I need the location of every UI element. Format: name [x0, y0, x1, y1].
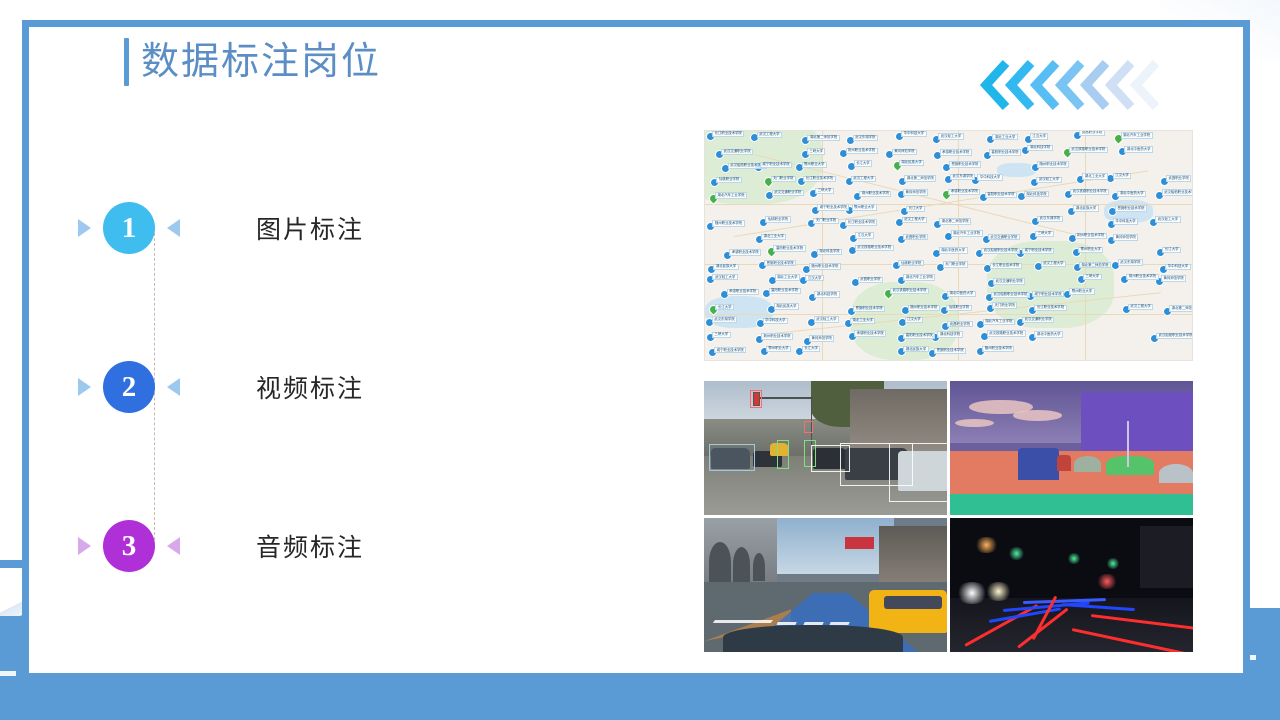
- triangle-left-icon: [167, 219, 180, 237]
- photo3-arch: [753, 553, 765, 581]
- map-poi-label[interactable]: 三峡大学: [807, 148, 826, 154]
- map-poi-label[interactable]: 武汉铁路职业技术学院: [1069, 147, 1108, 153]
- map-poi-label[interactable]: 仙桃职业学院: [946, 305, 971, 311]
- map-poi-label[interactable]: 武汉交通职业学院: [988, 234, 1020, 240]
- map-poi-label[interactable]: 武汉轻工大学: [814, 316, 839, 322]
- map-poi-label[interactable]: 武汉铁路职业技术学院: [890, 288, 929, 294]
- map-poi-label[interactable]: 湖北民族大学: [1073, 205, 1098, 211]
- map-poi-label[interactable]: 天门职业学院: [992, 302, 1017, 308]
- map-poi-label[interactable]: 湖北第二师范学院: [1169, 305, 1193, 311]
- map-poi-label[interactable]: 鄂州职业大学: [802, 162, 827, 168]
- map-poi-label[interactable]: 襄阳职业技术学院: [903, 333, 935, 339]
- photo-object-detection[interactable]: [704, 381, 947, 515]
- title-text: 数据标注岗位: [141, 43, 381, 81]
- map-poi-label[interactable]: 随州职业技术学院: [712, 220, 744, 226]
- map-poi-label[interactable]: 湖北民族大学: [774, 303, 799, 309]
- photo4-taillight-glow: [1096, 574, 1118, 589]
- map-poi-label[interactable]: 江汉大学: [855, 232, 874, 238]
- photo3-arch: [733, 547, 750, 582]
- map-poi-label[interactable]: 湖北第二师范学院: [939, 218, 971, 224]
- photo2-car-mask: [1106, 456, 1155, 475]
- map-poi-label[interactable]: 三峡大学: [1083, 274, 1102, 280]
- map-poi-label[interactable]: 武汉轻工大学: [1155, 216, 1180, 222]
- map-poi-label[interactable]: 武汉船舶职业技术学院: [1156, 333, 1193, 339]
- map-poi-label[interactable]: 长江职业技术学院: [845, 219, 877, 225]
- map-poi-label[interactable]: 恩施职业技术学院: [934, 348, 966, 354]
- map-poi-label[interactable]: 武昌职业学院: [1166, 175, 1191, 181]
- map-poi-label[interactable]: 湖北第二师范学院: [1079, 262, 1111, 268]
- bbox-traffic-light: [804, 421, 814, 433]
- map-poi-label[interactable]: 恩施职业技术学院: [949, 161, 981, 167]
- map-poi-label[interactable]: 孝感职业技术学院: [948, 189, 980, 195]
- map-poi-label[interactable]: 天门职业学院: [943, 261, 968, 267]
- map-poi-label[interactable]: 三峡大学: [1035, 231, 1054, 237]
- photo3-ego-hood: [723, 625, 903, 652]
- map-poi-label[interactable]: 武汉轻工大学: [938, 133, 963, 139]
- map-road: [1085, 131, 1086, 360]
- map-poi-label[interactable]: 孝感职业技术学院: [854, 330, 886, 336]
- map-poi-label[interactable]: 随州职业技术学院: [982, 346, 1014, 352]
- map-poi-label[interactable]: 鄂州职业大学: [766, 346, 791, 352]
- map-poi-label[interactable]: 黄冈师范学院: [892, 149, 917, 155]
- map-screenshot[interactable]: 长江职业技术学院武汉工程大学湖北第二师范学院武汉东湖学院华中科技大学武汉轻工大学…: [704, 130, 1193, 361]
- photo4-traffic-light-green: [1106, 558, 1121, 569]
- map-poi-label[interactable]: 湖北民族大学: [903, 346, 928, 352]
- photo3-arch: [709, 542, 731, 582]
- triangle-right-icon: [78, 219, 91, 237]
- map-poi-label[interactable]: 荆州职业技术学院: [761, 333, 793, 339]
- map-poi-label[interactable]: 湖北中医药大学: [947, 291, 976, 297]
- map-poi-label[interactable]: 湖北科技学院: [817, 249, 842, 255]
- map-poi-label[interactable]: 荆州职业技术学院: [1075, 233, 1107, 239]
- map-poi-label[interactable]: 武汉铁路职业技术学院: [987, 330, 1026, 336]
- map-poi-label[interactable]: 仙桃职业学院: [765, 216, 790, 222]
- step-number-badge: 3: [103, 520, 155, 572]
- map-poi-label[interactable]: 武汉东湖学院: [1118, 259, 1143, 265]
- map-poi-label[interactable]: 襄阳职业技术学院: [985, 192, 1017, 198]
- map-poi-label[interactable]: 武汉东湖学院: [1037, 216, 1062, 222]
- bbox-traffic-light: [750, 390, 762, 407]
- map-poi-label[interactable]: 荆州职业技术学院: [1126, 274, 1158, 280]
- map-poi-label[interactable]: 长江大学: [906, 206, 925, 212]
- list-item[interactable]: 2 视频标注: [78, 354, 598, 420]
- map-poi-label[interactable]: 武汉船舶职业技术学院: [1162, 189, 1193, 195]
- map-poi-label[interactable]: 天门职业学院: [771, 176, 796, 182]
- map-poi-label[interactable]: 湖北工业大学: [1082, 173, 1107, 179]
- steps-timeline: 1 图片标注 2 视频标注 3 音频标注: [78, 170, 598, 590]
- photo3-taxi-window: [884, 596, 942, 609]
- map-poi-label[interactable]: 江汉大学: [1030, 133, 1049, 139]
- map-poi-label[interactable]: 武汉东湖学院: [853, 135, 878, 141]
- photo2-vegetation-mask: [1081, 392, 1193, 456]
- map-poi-label[interactable]: 武汉交通职业学院: [1022, 317, 1054, 323]
- triangle-left-icon: [167, 537, 180, 555]
- map-poi-label[interactable]: 江汉大学: [805, 275, 824, 281]
- map-poi-label[interactable]: 随州职业技术学院: [809, 263, 841, 269]
- map-poi-label[interactable]: 咸宁职业技术学院: [714, 347, 746, 353]
- map-poi-label[interactable]: 荆州职业技术学院: [846, 148, 878, 154]
- map-poi-label[interactable]: 咸宁职业技术学院: [760, 162, 792, 168]
- map-poi-label[interactable]: 湖北科技学院: [1027, 145, 1052, 151]
- map-poi-label[interactable]: 武汉轻工大学: [712, 274, 737, 280]
- map-poi-label[interactable]: 湖北中医药大学: [1124, 146, 1153, 152]
- page-title: 数据标注岗位: [124, 38, 381, 86]
- map-poi-label[interactable]: 湖北科技学院: [814, 291, 839, 297]
- map-poi-label[interactable]: 华中科技大学: [977, 174, 1002, 180]
- map-poi-label[interactable]: 湖北汽车工业学院: [951, 230, 983, 236]
- map-poi-label[interactable]: 武汉铁路职业技术学院: [855, 245, 894, 251]
- photo3-billboard: [845, 537, 874, 549]
- map-poi-label[interactable]: 荆州职业技术学院: [859, 191, 891, 197]
- map-poi-label[interactable]: 孝感职业技术学院: [940, 149, 972, 155]
- map-poi-label[interactable]: 湖北汽车工业学院: [903, 274, 935, 280]
- bbox-car: [889, 443, 947, 502]
- photo-semantic-segmentation[interactable]: [950, 381, 1193, 515]
- map-poi-label[interactable]: 武汉交通职业学院: [721, 149, 753, 155]
- map-poi-label[interactable]: 长江大学: [715, 304, 734, 310]
- map-poi-label[interactable]: 武昌职业学院: [1079, 130, 1104, 136]
- photo2-vehicle-mask: [1074, 456, 1101, 472]
- step-number-badge: 1: [103, 202, 155, 254]
- map-poi-label[interactable]: 江汉大学: [905, 317, 924, 323]
- map-poi-label[interactable]: 武汉东湖学院: [950, 174, 975, 180]
- map-poi-label[interactable]: 天门职业学院: [813, 218, 838, 224]
- photo2-terrain-mask: [950, 494, 1193, 515]
- map-poi-label[interactable]: 武昌职业学院: [858, 277, 883, 283]
- photo2-road-mask: [950, 451, 1193, 497]
- map-poi-label[interactable]: 长江大学: [802, 346, 821, 352]
- triangle-left-icon: [167, 378, 180, 396]
- map-poi-label[interactable]: 恩施职业技术学院: [853, 306, 885, 312]
- map-poi-label[interactable]: 三峡大学: [815, 188, 834, 194]
- map-poi-label[interactable]: 随州职业技术学院: [908, 305, 940, 311]
- photo2-vehicle-mask: [1159, 464, 1193, 483]
- map-poi-label[interactable]: 湖北第二师范学院: [807, 135, 839, 141]
- map-poi-label[interactable]: 武昌职业学院: [903, 234, 928, 240]
- map-poi-label[interactable]: 湖北民族大学: [713, 264, 738, 270]
- photo3-lane-line: [713, 620, 773, 623]
- map-poi-label[interactable]: 咸宁职业技术学院: [817, 204, 849, 210]
- map-poi-label[interactable]: 襄阳职业技术学院: [769, 288, 801, 294]
- map-poi-label[interactable]: 湖北科技学院: [937, 331, 962, 337]
- list-item-label: 视频标注: [256, 369, 364, 405]
- photo4-streetlight-glow: [974, 537, 998, 553]
- map-poi-label[interactable]: 湖北汽车工业学院: [715, 192, 747, 198]
- map-poi-label[interactable]: 华中科技大学: [1165, 264, 1190, 270]
- map-poi-label[interactable]: 华中科技大学: [763, 318, 788, 324]
- map-poi-label[interactable]: 长江职业技术学院: [1034, 305, 1066, 311]
- title-accent-bar: [124, 38, 129, 86]
- map-poi-label[interactable]: 武汉工程大学: [902, 217, 927, 223]
- map-poi-label[interactable]: 武汉交通职业学院: [993, 278, 1025, 284]
- map-poi-label[interactable]: 湖北工业大学: [761, 234, 786, 240]
- photo3-buildings: [879, 526, 947, 590]
- map-poi-label[interactable]: 湖北民族大学: [899, 160, 924, 166]
- map-poi-label[interactable]: 武汉船舶职业技术学院: [991, 292, 1030, 298]
- map-poi-label[interactable]: 湖北科技学院: [1024, 191, 1049, 197]
- list-item-label: 图片标注: [256, 210, 364, 246]
- map-poi-label[interactable]: 湖北工业大学: [775, 274, 800, 280]
- map-poi-label[interactable]: 武汉工程大学: [851, 176, 876, 182]
- map-poi-label[interactable]: 武汉船舶职业技术学院: [981, 248, 1020, 254]
- map-poi-label[interactable]: 黄冈师范学院: [809, 335, 834, 341]
- map-poi-label[interactable]: 湖北汽车工业学院: [1121, 132, 1153, 138]
- map-poi-label[interactable]: 黄冈师范学院: [903, 189, 928, 195]
- photo4-traffic-light-green: [1067, 553, 1082, 564]
- map-poi-label[interactable]: 湖北中医药大学: [939, 247, 968, 253]
- map-poi-label[interactable]: 湖北工业大学: [850, 318, 875, 324]
- map-poi-label[interactable]: 长江职业技术学院: [803, 176, 835, 182]
- map-poi-label[interactable]: 华中科技大学: [1113, 218, 1138, 224]
- photo1-traffic-light-arm: [757, 397, 813, 399]
- map-poi-label[interactable]: 恩施职业技术学院: [764, 260, 796, 266]
- map-poi-label[interactable]: 长江职业技术学院: [712, 131, 744, 137]
- map-poi-label[interactable]: 武汉轻工大学: [1036, 177, 1061, 183]
- map-poi-label[interactable]: 江汉大学: [1113, 173, 1132, 179]
- map-poi-label[interactable]: 武汉交通职业学院: [772, 190, 804, 196]
- map-poi-label[interactable]: 黄冈师范学院: [1113, 234, 1138, 240]
- photo4-building: [1140, 526, 1193, 588]
- map-poi-label[interactable]: 武汉工程大学: [757, 132, 782, 138]
- bottom-left-dash-1: [0, 671, 16, 676]
- map-poi-label[interactable]: 孝感职业技术学院: [729, 249, 761, 255]
- map-poi-label[interactable]: 华中科技大学: [901, 131, 926, 137]
- map-poi-label[interactable]: 湖北第二师范学院: [904, 175, 936, 181]
- photo-lane-detection[interactable]: [950, 518, 1193, 652]
- map-poi-label[interactable]: 襄阳职业技术学院: [773, 245, 805, 251]
- chevron-decoration: [980, 55, 1170, 115]
- map-poi-label[interactable]: 随州职业技术学院: [1037, 161, 1069, 167]
- map-poi-label[interactable]: 襄阳职业技术学院: [989, 149, 1021, 155]
- map-poi-label[interactable]: 三峡大学: [712, 332, 731, 338]
- map-poi-label[interactable]: 武汉工程大学: [1128, 304, 1153, 310]
- map-poi-label[interactable]: 武昌职业学院: [947, 321, 972, 327]
- map-poi-label[interactable]: 孝感职业技术学院: [727, 289, 759, 295]
- list-item[interactable]: 3 音频标注: [78, 513, 598, 579]
- map-poi-label[interactable]: 长江职业技术学院: [990, 263, 1022, 269]
- annotation-photo-grid: [704, 381, 1193, 652]
- map-poi-label[interactable]: 仙桃职业学院: [898, 260, 923, 266]
- map-poi-label[interactable]: 湖北中医药大学: [1034, 331, 1063, 337]
- map-poi-label[interactable]: 鄂州职业大学: [852, 204, 877, 210]
- triangle-right-icon: [78, 378, 91, 396]
- map-poi-label[interactable]: 咸宁职业技术学院: [1032, 291, 1064, 297]
- double-chevron-left-icon: [980, 55, 1170, 115]
- photo2-vehicle-mask: [1018, 448, 1059, 480]
- map-poi-label[interactable]: 仙桃职业学院: [716, 177, 741, 183]
- map-poi-label[interactable]: 湖北中医药大学: [1117, 191, 1146, 197]
- photo-drivable-area[interactable]: [704, 518, 947, 652]
- triangle-right-icon: [78, 537, 91, 555]
- media-column: 长江职业技术学院武汉工程大学湖北第二师范学院武汉东湖学院华中科技大学武汉轻工大学…: [704, 130, 1193, 652]
- photo2-pole-mask: [1127, 421, 1129, 467]
- map-poi-label[interactable]: 武汉工程大学: [1041, 261, 1066, 267]
- map-poi-label[interactable]: 湖北工业大学: [992, 134, 1017, 140]
- photo2-cloud: [955, 419, 994, 427]
- map-poi-label[interactable]: 武汉东湖学院: [712, 316, 737, 322]
- map-poi-label[interactable]: 武汉铁路职业技术学院: [1070, 189, 1109, 195]
- photo2-vehicle-mask: [1057, 455, 1072, 471]
- step-number-badge: 2: [103, 361, 155, 413]
- map-poi-label[interactable]: 长江大学: [1162, 247, 1181, 253]
- bbox-person: [777, 440, 789, 469]
- map-poi-label[interactable]: 湖北汽车工业学院: [983, 319, 1015, 325]
- photo4-traffic-light-green: [1008, 547, 1025, 559]
- list-item-label: 音频标注: [256, 528, 364, 564]
- map-poi-label[interactable]: 长江大学: [854, 160, 873, 166]
- map-poi-label[interactable]: 恩施职业技术学院: [1115, 205, 1147, 211]
- map-poi-label[interactable]: 鄂州职业大学: [1069, 288, 1094, 294]
- map-poi-label[interactable]: 咸宁职业技术学院: [1022, 248, 1054, 254]
- bbox-car: [709, 444, 755, 471]
- map-poi-label[interactable]: 黄冈师范学院: [1161, 275, 1186, 281]
- list-item[interactable]: 1 图片标注: [78, 195, 598, 261]
- map-poi-label[interactable]: 鄂州职业大学: [1078, 247, 1103, 253]
